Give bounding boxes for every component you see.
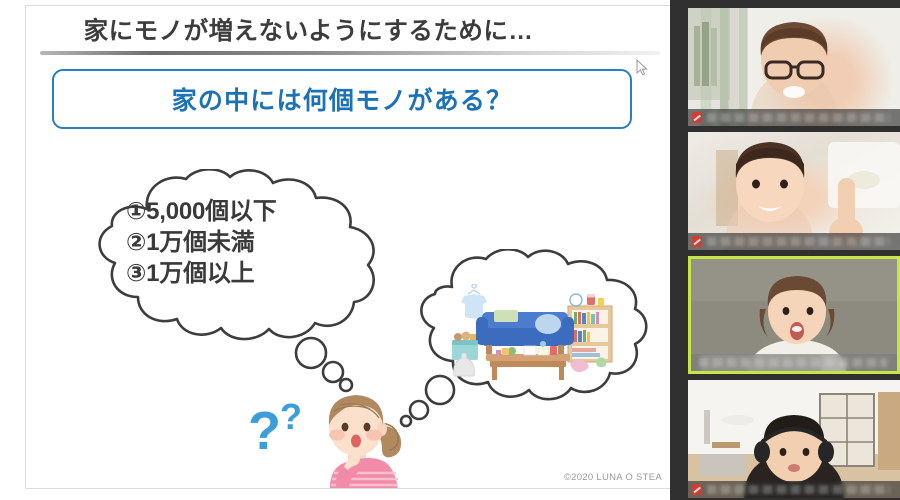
option-2: ②1万個未満	[126, 227, 366, 258]
participant-tile-1[interactable]	[688, 8, 900, 126]
participant-name-bar-3	[691, 354, 897, 371]
woman-thinking-illustration	[304, 389, 414, 489]
participant-tile-4[interactable]	[688, 380, 900, 498]
participant-name-redacted	[707, 113, 890, 122]
participant-name-redacted	[707, 237, 890, 246]
bookshelf-icon	[568, 294, 612, 362]
participant-filmstrip[interactable]	[670, 0, 900, 500]
participant-name-redacted	[707, 485, 890, 494]
mic-muted-icon	[692, 484, 702, 495]
participant-name-bar-4	[688, 481, 900, 498]
svg-text:?: ?	[280, 396, 302, 437]
question-callout-box: 家の中には何個モノがある？	[52, 69, 632, 129]
participant-tile-2[interactable]	[688, 132, 900, 250]
participant-tile-3-active-speaker[interactable]	[688, 256, 900, 374]
coffee-table-icon	[486, 341, 570, 380]
cluttered-room-illustration	[446, 284, 626, 384]
headset-earcup	[754, 441, 770, 463]
option-3: ③1万個以上	[126, 258, 366, 289]
copyright-notice: ©2020 LUNA O STEA	[564, 472, 662, 483]
option-1: ①5,000個以下	[126, 196, 366, 227]
shared-screen-area[interactable]: 家にモノが増えないようにするために… 家の中には何個モノがある？ ①5,000個…	[0, 0, 670, 500]
video-conference-screen-share: 家にモノが増えないようにするために… 家の中には何個モノがある？ ①5,000個…	[0, 0, 900, 500]
participant-name-bar-2	[688, 233, 900, 250]
title-divider-rule	[40, 51, 660, 55]
mouse-cursor-icon	[636, 59, 648, 77]
participant-name-redacted	[699, 358, 887, 367]
answer-options-list: ①5,000個以下 ②1万個未満 ③1万個以上	[126, 196, 366, 290]
mic-muted-icon	[692, 236, 702, 247]
hanging-shirt-icon	[461, 284, 487, 318]
participant-name-bar-1	[688, 109, 900, 126]
question-text: 家の中には何個モノがある？	[172, 81, 513, 117]
svg-text:?: ?	[248, 401, 281, 461]
headset-earcup	[818, 441, 834, 463]
thought-bubble-left-tail	[291, 336, 361, 396]
mic-muted-icon	[692, 112, 702, 123]
slide-title: 家にモノが増えないようにするために…	[26, 12, 591, 47]
presentation-slide: 家にモノが増えないようにするために… 家の中には何個モノがある？ ①5,000個…	[25, 5, 670, 489]
